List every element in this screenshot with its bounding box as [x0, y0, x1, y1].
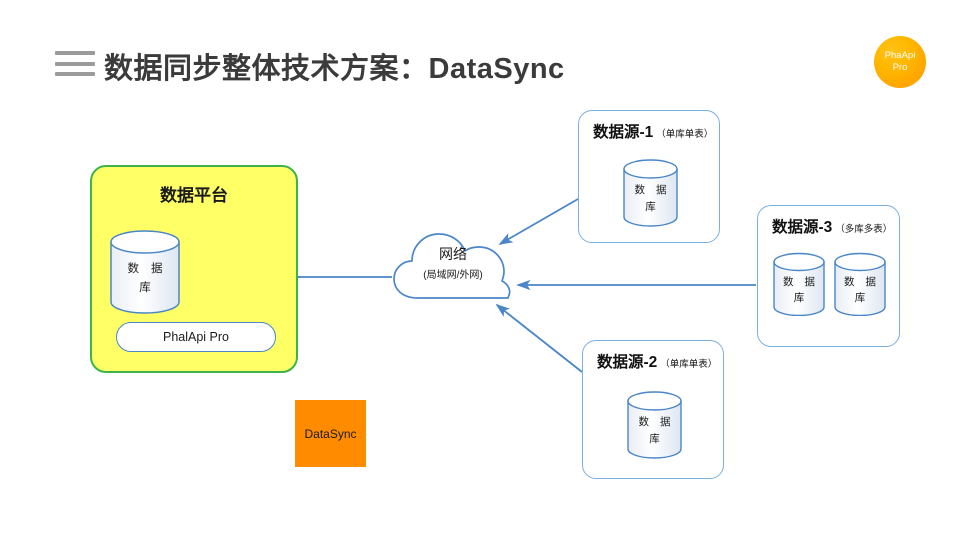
slide-canvas: 数据同步整体技术方案：DataSync PhaApi Pro [0, 0, 960, 540]
architecture-diagram: 数据平台 数 据 库 [0, 0, 960, 540]
data-source-3-box[interactable]: 数据源-3 （多库多表） 数 据 [757, 205, 900, 347]
database-label-line1: 数 据 [631, 182, 671, 199]
data-source-1-name: 数据源-1 [593, 120, 653, 142]
database-label-line1: 数 据 [635, 414, 675, 431]
data-source-2-header: 数据源-2 （单库单表） [597, 350, 717, 372]
database-cylinder-src1: 数 据 库 [622, 159, 679, 227]
database-cylinder-src2: 数 据 库 [626, 391, 683, 459]
network-labels: 网络 (局域网/外网) [392, 244, 514, 281]
data-source-2-name: 数据源-2 [597, 350, 657, 372]
database-label-line1: 数 据 [840, 274, 880, 290]
network-cloud[interactable]: 网络 (局域网/外网) [392, 228, 514, 304]
database-cylinder-src3-a: 数 据 库 [772, 252, 826, 316]
data-platform-title: 数据平台 [92, 181, 296, 206]
database-cylinder-platform: 数 据 库 [109, 230, 181, 314]
data-source-1-subtitle: （单库单表） [656, 126, 713, 140]
data-source-3-header: 数据源-3 （多库多表） [772, 215, 892, 237]
data-source-1-box[interactable]: 数据源-1 （单库单表） 数 据 [578, 110, 720, 243]
data-source-3-subtitle: （多库多表） [835, 221, 892, 235]
database-label-line2: 库 [645, 199, 656, 216]
network-title: 网络 [392, 244, 514, 264]
data-source-2-box[interactable]: 数据源-2 （单库单表） 数 据 [582, 340, 724, 479]
database-cylinder-src3-b: 数 据 库 [833, 252, 887, 316]
data-platform-box[interactable]: 数据平台 数 据 库 [90, 165, 298, 373]
database-label-line1: 数 据 [779, 274, 819, 290]
database-label-line2: 库 [855, 290, 866, 306]
database-label-line2: 库 [139, 279, 151, 298]
phalapi-pro-pill[interactable]: PhalApi Pro [116, 322, 276, 352]
data-source-3-name: 数据源-3 [772, 215, 832, 237]
data-source-2-subtitle: （单库单表） [660, 356, 717, 370]
database-label-line1: 数 据 [123, 260, 167, 279]
data-source-1-header: 数据源-1 （单库单表） [593, 120, 713, 142]
database-label-line2: 库 [649, 431, 660, 448]
database-label-line2: 库 [794, 290, 805, 306]
datasync-module[interactable]: DataSync [295, 400, 366, 467]
network-subtitle: (局域网/外网) [392, 266, 514, 281]
